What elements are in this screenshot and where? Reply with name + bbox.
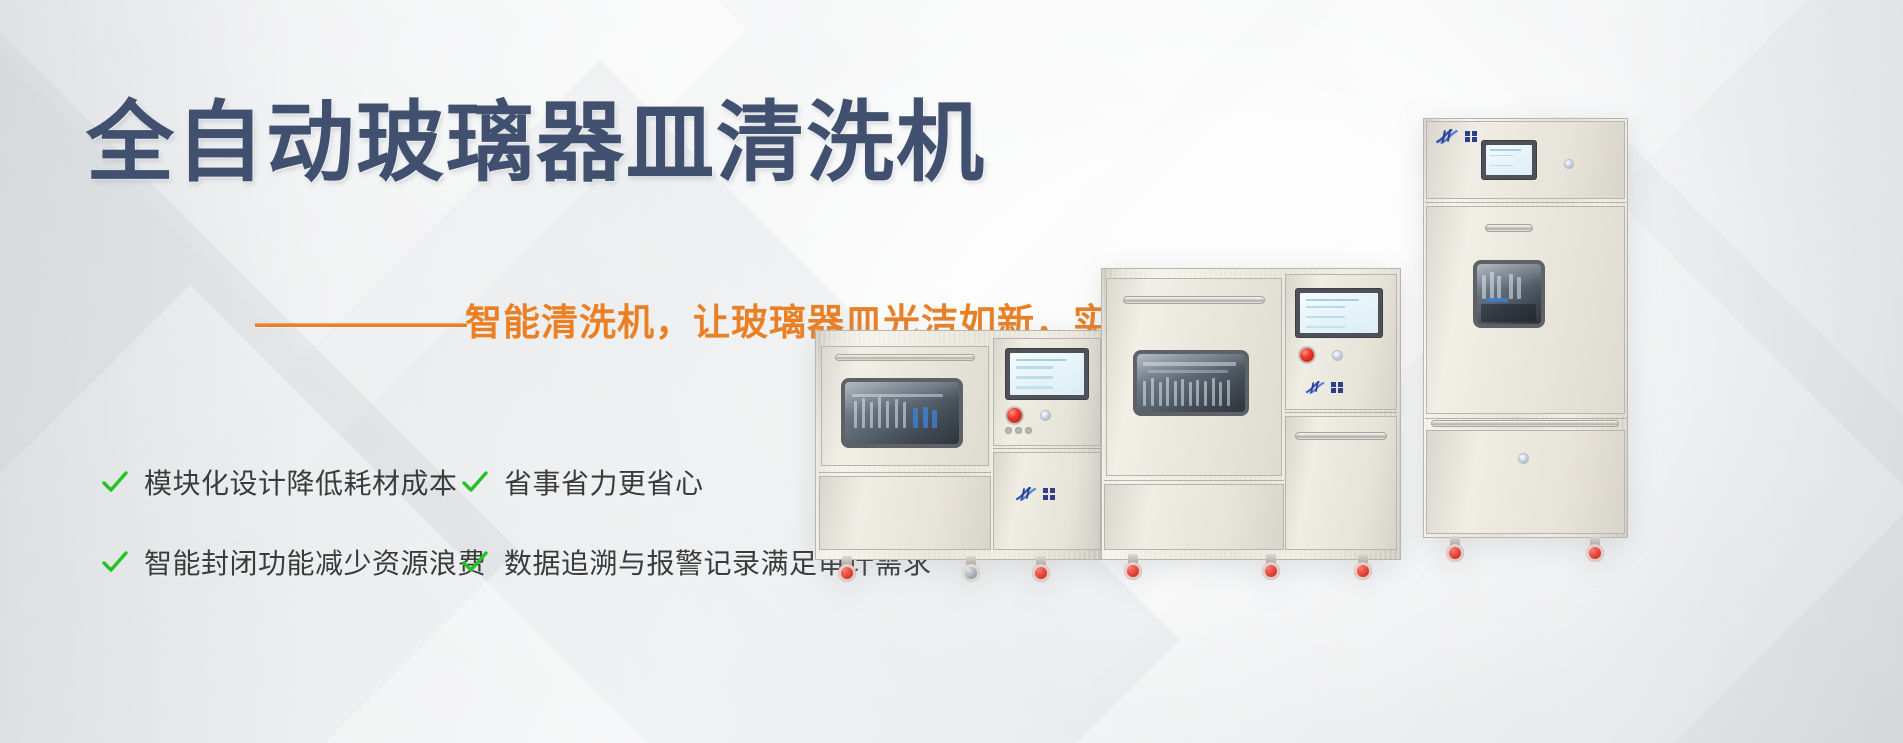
product-image-undercounter-washer	[815, 330, 1105, 560]
caster-wheel	[1585, 536, 1605, 564]
touchscreen-display[interactable]	[1295, 288, 1383, 338]
check-icon	[460, 467, 490, 497]
check-icon	[460, 547, 490, 577]
brand-logo-icon	[1435, 128, 1477, 145]
lower-panel	[819, 476, 991, 550]
product-image-tall-cabinet-washer	[1423, 118, 1628, 538]
door-handle-icon	[1485, 224, 1533, 232]
glassware-load	[845, 382, 959, 444]
caster-wheel	[1445, 536, 1465, 564]
touchscreen-display[interactable]	[1481, 140, 1537, 180]
service-panel	[1426, 430, 1625, 534]
service-lock-icon	[1519, 454, 1528, 463]
caster-wheel	[837, 556, 857, 584]
power-button[interactable]	[1333, 351, 1342, 360]
panel-handle-icon	[1431, 420, 1619, 427]
subtitle-dash: ——————	[255, 302, 465, 343]
touchscreen-display[interactable]	[1005, 348, 1089, 400]
list-item: 模块化设计降低耗材成本	[100, 462, 460, 502]
panel-handle-icon	[1295, 432, 1387, 440]
page-title: 全自动玻璃器皿清洗机	[86, 97, 986, 189]
viewing-window	[1473, 260, 1545, 328]
feature-label: 省事省力更省心	[504, 462, 704, 502]
promo-banner: 全自动玻璃器皿清洗机 ——————智能清洗机，让玻璃器皿光洁如新，实验无忧！ 模…	[0, 0, 1903, 743]
product-images	[903, 0, 1903, 743]
viewing-window	[1133, 350, 1249, 416]
emergency-stop-button[interactable]	[1300, 348, 1314, 362]
product-image-freestanding-washer	[1101, 268, 1401, 560]
caster-wheel	[1031, 556, 1051, 584]
caster-wheel	[1261, 554, 1281, 582]
caster-wheel	[1353, 554, 1373, 582]
viewing-window	[841, 378, 963, 448]
check-icon	[100, 547, 130, 577]
feature-label: 智能封闭功能减少资源浪费	[144, 542, 486, 582]
caster-wheel	[1123, 554, 1143, 582]
list-item: 省事省力更省心	[460, 462, 860, 502]
check-icon	[100, 467, 130, 497]
brand-logo-icon	[1015, 486, 1055, 502]
lower-panel	[1104, 484, 1284, 550]
list-item: 智能封闭功能减少资源浪费	[100, 542, 460, 582]
power-button[interactable]	[1041, 411, 1050, 420]
door-handle-icon	[835, 354, 975, 361]
caster-wheel	[961, 556, 981, 584]
emergency-stop-button[interactable]	[1007, 408, 1022, 423]
door-handle-icon	[1123, 296, 1265, 304]
glassware-load	[1477, 264, 1541, 324]
list-item: 数据追溯与报警记录满足审计需求	[460, 542, 860, 582]
brand-logo-icon	[1305, 380, 1343, 395]
power-button[interactable]	[1565, 160, 1573, 168]
feature-label: 模块化设计降低耗材成本	[144, 462, 458, 502]
mini-button-group[interactable]	[1005, 427, 1032, 434]
glassware-load	[1137, 354, 1245, 412]
